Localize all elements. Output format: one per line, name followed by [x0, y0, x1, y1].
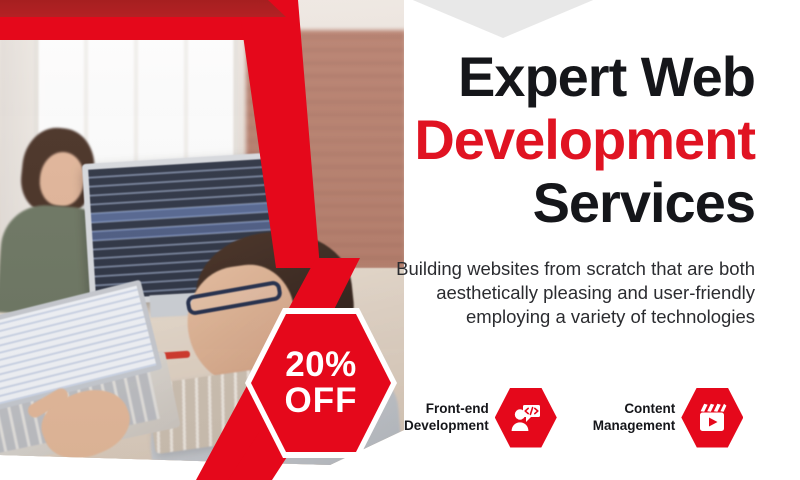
subcopy-text: Building websites from scratch that are … — [390, 257, 755, 330]
service-badge-front-end[interactable] — [495, 388, 557, 448]
offer-percent: 20% — [285, 347, 357, 383]
service-content-management[interactable]: Content Management — [593, 388, 744, 448]
service-label-line-2: Development — [404, 418, 489, 433]
clapperboard-play-icon — [697, 403, 727, 432]
promo-banner: Two developers working at a desk with a … — [0, 0, 800, 480]
red-top-band-dark — [0, 0, 300, 17]
person-code-bubble-icon — [511, 404, 541, 432]
service-label-line-2: Management — [593, 418, 676, 433]
offer-badge[interactable]: 20% OFF — [245, 308, 397, 458]
service-label-content: Content Management — [593, 401, 676, 435]
services-row: Front-end Development — [400, 380, 795, 455]
page-title: Expert Web Development Services — [390, 50, 755, 231]
headline-line-1: Expert Web — [390, 50, 755, 105]
headline-line-2: Development — [390, 113, 755, 168]
service-front-end-development[interactable]: Front-end Development — [404, 388, 557, 448]
service-badge-content[interactable] — [681, 388, 743, 448]
service-label-line-1: Front-end — [426, 401, 489, 416]
headline-line-3: Services — [390, 176, 755, 231]
service-label-line-1: Content — [624, 401, 675, 416]
offer-label: OFF — [285, 383, 358, 419]
service-label-front-end: Front-end Development — [404, 401, 489, 435]
